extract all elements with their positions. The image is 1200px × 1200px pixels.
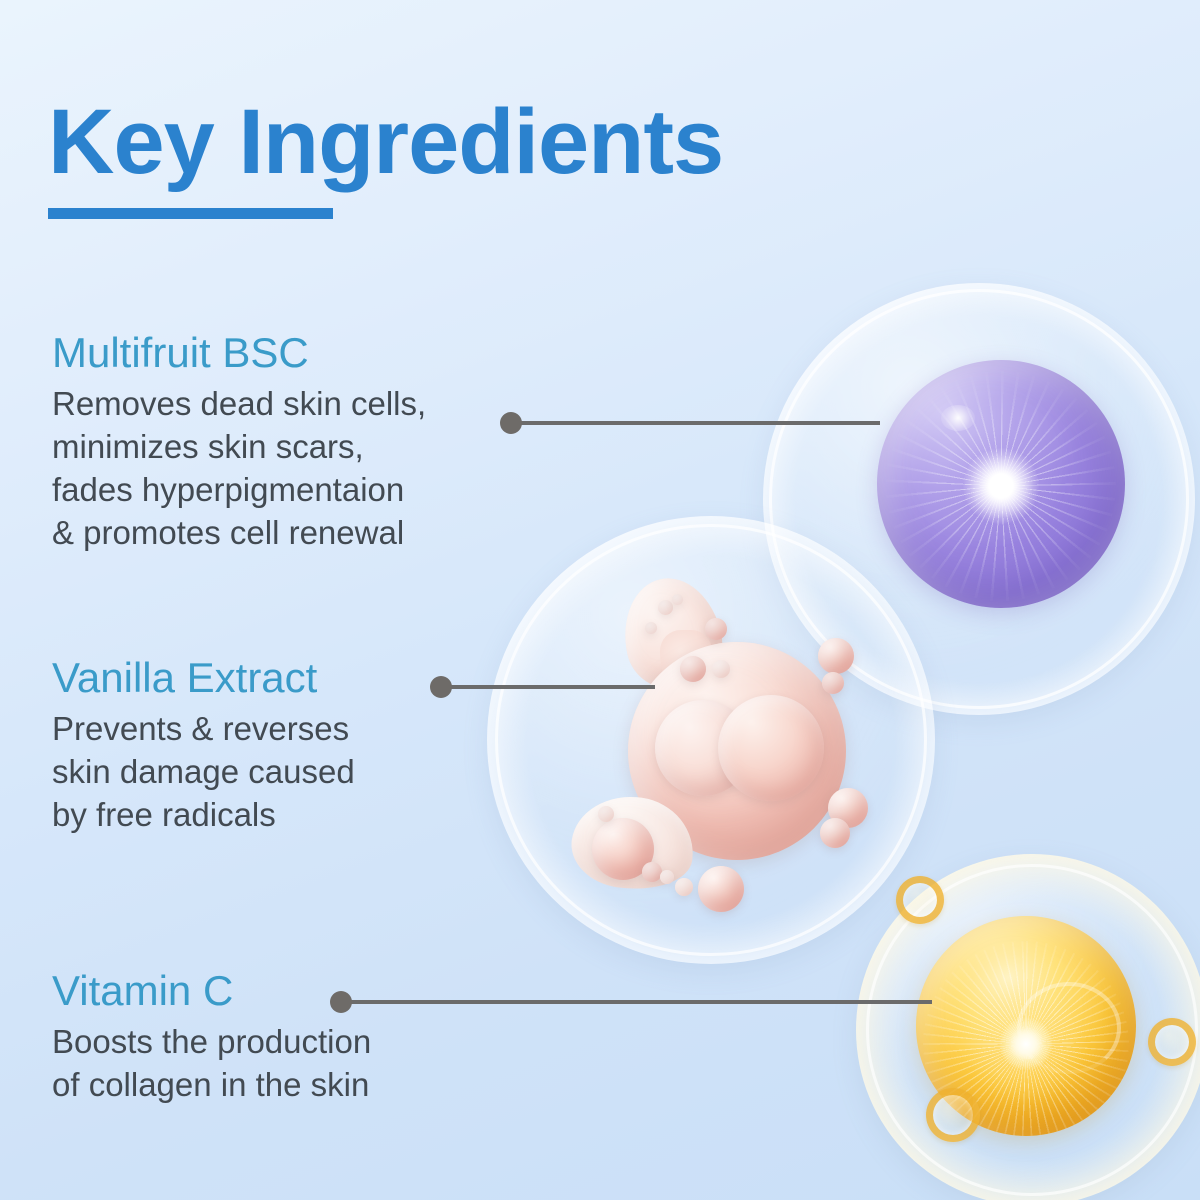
pink-droplet-small [680,656,706,682]
ingredient-name: Vitamin C [52,968,371,1013]
page-title: Key Ingredients [48,96,1008,188]
connector-dot-vitamin-c [330,991,352,1013]
pink-droplet-small [660,870,674,884]
specular-highlight [941,405,975,431]
ingredient-block-vanilla-extract: Vanilla Extract Prevents & reverses skin… [52,655,355,837]
pink-droplet-small [645,622,657,634]
pink-droplet-small [822,672,844,694]
ingredient-description: Prevents & reverses skin damage caused b… [52,708,355,837]
ingredient-block-multifruit-bsc: Multifruit BSC Removes dead skin cells, … [52,330,426,555]
pink-droplet-lobe-right [718,695,824,801]
pink-droplet-small [672,594,683,605]
connector-dot-vanilla-extract [430,676,452,698]
pink-droplet-small [658,600,673,615]
title-underline-accent [48,208,333,219]
purple-serum-sphere [877,360,1125,608]
pink-droplet-small [642,862,662,882]
connector-line-multifruit-bsc [520,421,880,425]
pink-droplet-small [598,806,614,822]
title-block: Key Ingredients [48,96,1008,188]
ingredient-name: Multifruit BSC [52,330,426,375]
pink-droplet-small [818,638,854,674]
light-spark-icon [1000,1018,1052,1070]
light-spark-icon [963,448,1039,524]
connector-line-vanilla-extract [450,685,655,689]
pink-droplet-small [705,618,727,640]
ingredients-infographic: Key Ingredients Multifruit BSC Removes d… [0,0,1200,1200]
connector-line-vitamin-c [350,1000,932,1004]
ingredient-name: Vanilla Extract [52,655,355,700]
pink-droplet-small [698,866,744,912]
ingredient-description: Boosts the production of collagen in the… [52,1021,371,1107]
orange-ring-droplet [926,1088,980,1142]
pink-droplet-small [820,818,850,848]
ingredient-block-vitamin-c: Vitamin C Boosts the production of colla… [52,968,371,1107]
pink-droplet-small [675,878,693,896]
ingredient-description: Removes dead skin cells, minimizes skin … [52,383,426,555]
orange-ring-droplet [896,876,944,924]
pink-droplet-small [712,660,730,678]
connector-dot-multifruit-bsc [500,412,522,434]
orange-ring-droplet [1148,1018,1196,1066]
